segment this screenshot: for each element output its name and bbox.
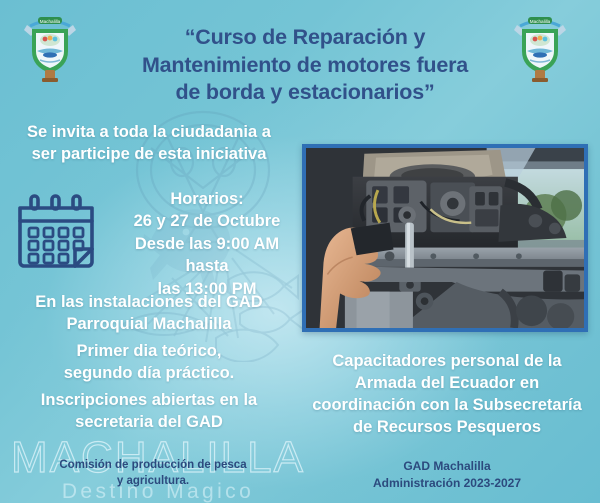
svg-text:Machalilla: Machalilla <box>530 19 551 24</box>
footer-block: GAD Machalilla Administración 2023-2027 <box>300 458 594 491</box>
trainers-line-1: Capacitadores personal de la <box>300 350 594 372</box>
title-line-3: de borda y estacionarios” <box>110 79 500 107</box>
svg-text:Machalilla: Machalilla <box>40 19 61 24</box>
commission-block: Comisión de producción de pesca y agricu… <box>8 458 298 490</box>
title-line-2: Mantenimiento de motores fuera <box>110 52 500 80</box>
venue-line-5: Inscripciones abiertas en la <box>6 390 292 412</box>
invite-line-1: Se invita a toda la ciudadania a <box>8 122 290 144</box>
trainers-line-2: Armada del Ecuador en <box>300 372 594 394</box>
poster-title: “Curso de Reparación y Mantenimiento de … <box>110 24 500 107</box>
trainers-line-4: de Recursos Pesqueros <box>300 416 594 438</box>
schedule-dates: 26 y 27 de Octubre <box>112 210 302 232</box>
coat-of-arms-right: Machalilla <box>514 17 566 82</box>
logo-right-machalilla: Machalilla <box>508 8 572 84</box>
trainers-line-3: coordinación con la Subsecretaría <box>300 394 594 416</box>
trainers-block: Capacitadores personal de la Armada del … <box>300 350 594 438</box>
schedule-heading: Horarios: <box>112 188 302 210</box>
outboard-motor-maintenance-photo <box>302 144 588 332</box>
schedule-block: Horarios: 26 y 27 de Octubre Desde las 9… <box>112 188 302 300</box>
footer-administration: Administración 2023-2027 <box>300 475 594 492</box>
footer-organization: GAD Machalilla <box>300 458 594 475</box>
venue-line-2: Parroquial Machalilla <box>6 314 292 336</box>
coat-of-arms-left: Machalilla <box>24 17 76 82</box>
commission-line-2: y agricultura. <box>8 474 298 490</box>
logo-left-machalilla: Machalilla <box>18 8 82 84</box>
commission-line-1: Comisión de producción de pesca <box>8 458 298 474</box>
calendar-icon <box>12 190 100 278</box>
invite-line-2: ser participe de esta iniciativa <box>8 144 290 166</box>
venue-line-3: Primer dia teórico, <box>6 341 292 363</box>
title-line-1: “Curso de Reparación y <box>110 24 500 52</box>
venue-line-1: En las instalaciones del GAD <box>6 292 292 314</box>
venue-line-4: segundo día práctico. <box>6 363 292 385</box>
schedule-time-line-1: Desde las 9:00 AM hasta <box>112 233 302 278</box>
invitation-text: Se invita a toda la ciudadania a ser par… <box>8 122 290 166</box>
poster-canvas: MACHALILLA Destino Magico Machalilla <box>0 0 600 503</box>
venue-block: En las instalaciones del GAD Parroquial … <box>6 292 292 434</box>
venue-line-6: secretaria del GAD <box>6 412 292 434</box>
